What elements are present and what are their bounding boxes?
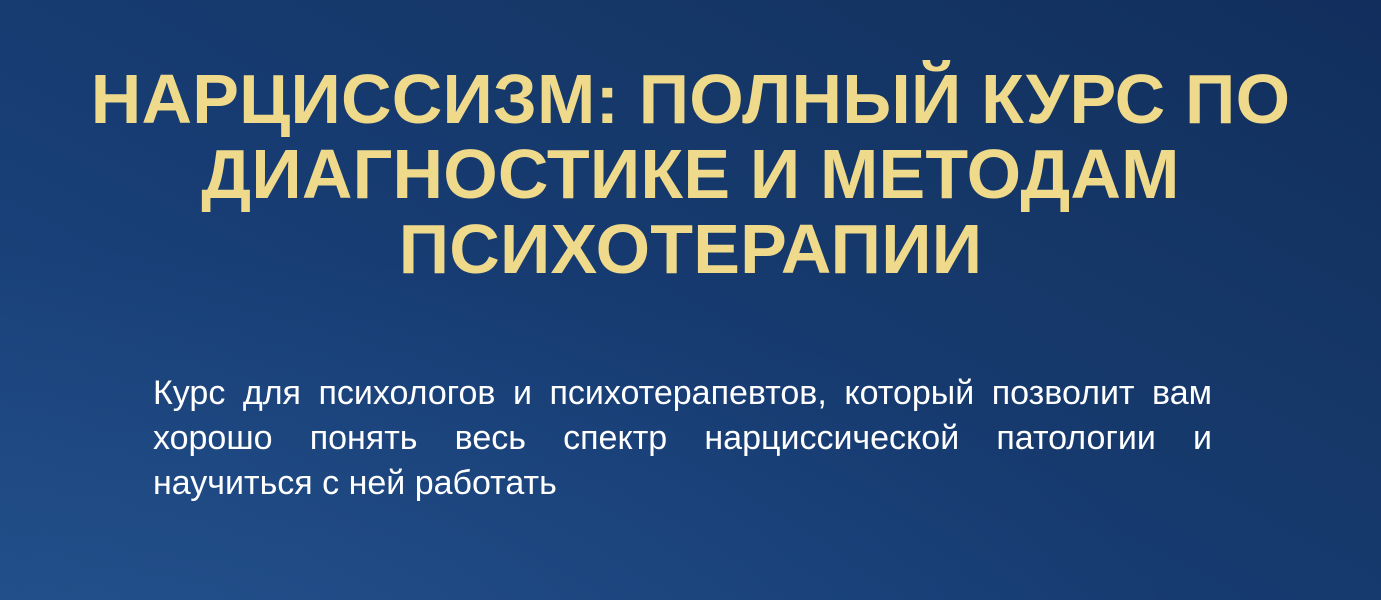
slide-subtitle: Курс для психологов и психотерапевтов, к… [153, 371, 1212, 506]
slide-content: НАРЦИССИЗМ: ПОЛНЫЙ КУРС ПО ДИАГНОСТИКЕ И… [0, 0, 1381, 600]
slide-canvas: НАРЦИССИЗМ: ПОЛНЫЙ КУРС ПО ДИАГНОСТИКЕ И… [0, 0, 1381, 600]
page-title: НАРЦИССИЗМ: ПОЛНЫЙ КУРС ПО ДИАГНОСТИКЕ И… [0, 62, 1381, 287]
